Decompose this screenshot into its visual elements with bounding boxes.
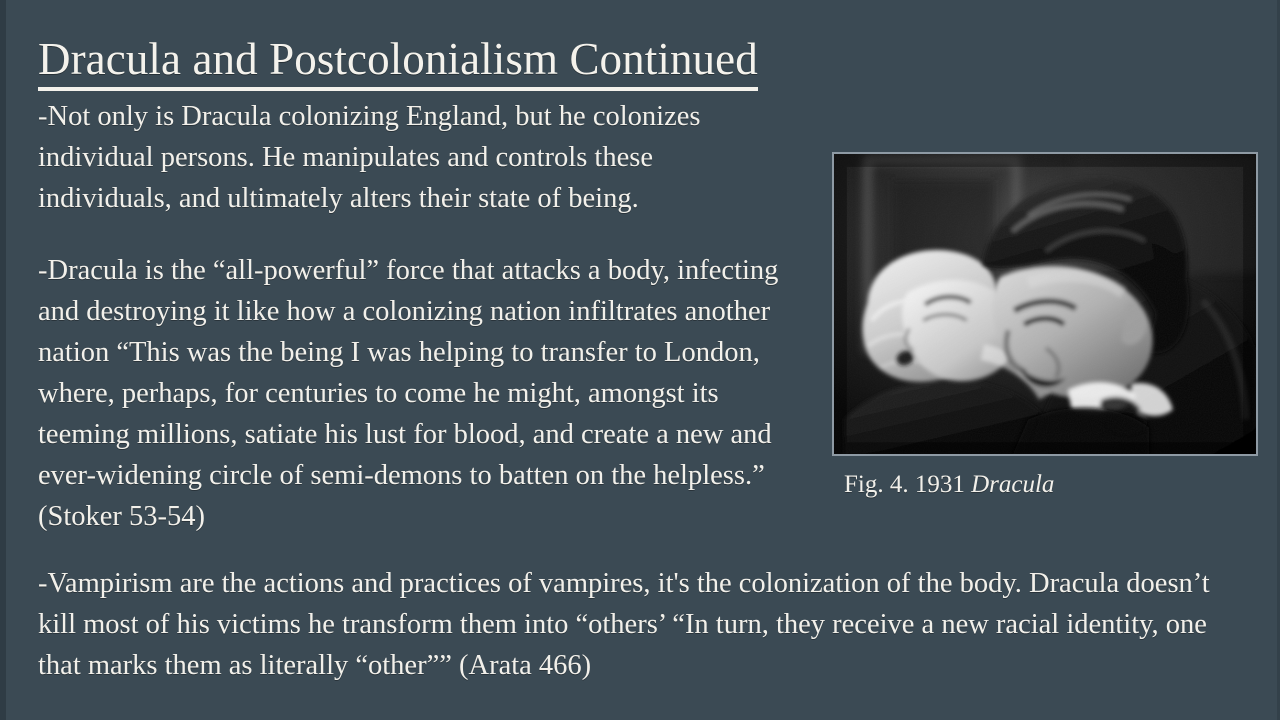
slide: Dracula and Postcolonialism Continued -N…	[0, 0, 1280, 720]
dracula-film-still-image	[834, 154, 1256, 455]
figure-image-frame	[832, 152, 1258, 456]
body-paragraph-3: -Vampirism are the actions and practices…	[38, 563, 1238, 686]
page-title-text: Dracula and Postcolonialism Continued	[38, 32, 758, 91]
figure-caption: Fig. 4. 1931 Dracula	[844, 470, 1054, 500]
page-title: Dracula and Postcolonialism Continued	[38, 32, 758, 91]
body-paragraph-1: -Not only is Dracula colonizing England,…	[38, 96, 778, 219]
slide-left-edge	[0, 0, 6, 720]
figure-caption-title: Dracula	[971, 471, 1054, 498]
body-paragraph-2: -Dracula is the “all-powerful” force tha…	[38, 250, 798, 537]
figure-caption-prefix: Fig. 4. 1931	[844, 471, 971, 498]
figure-dracula-1931: Fig. 4. 1931 Dracula	[832, 152, 1258, 456]
